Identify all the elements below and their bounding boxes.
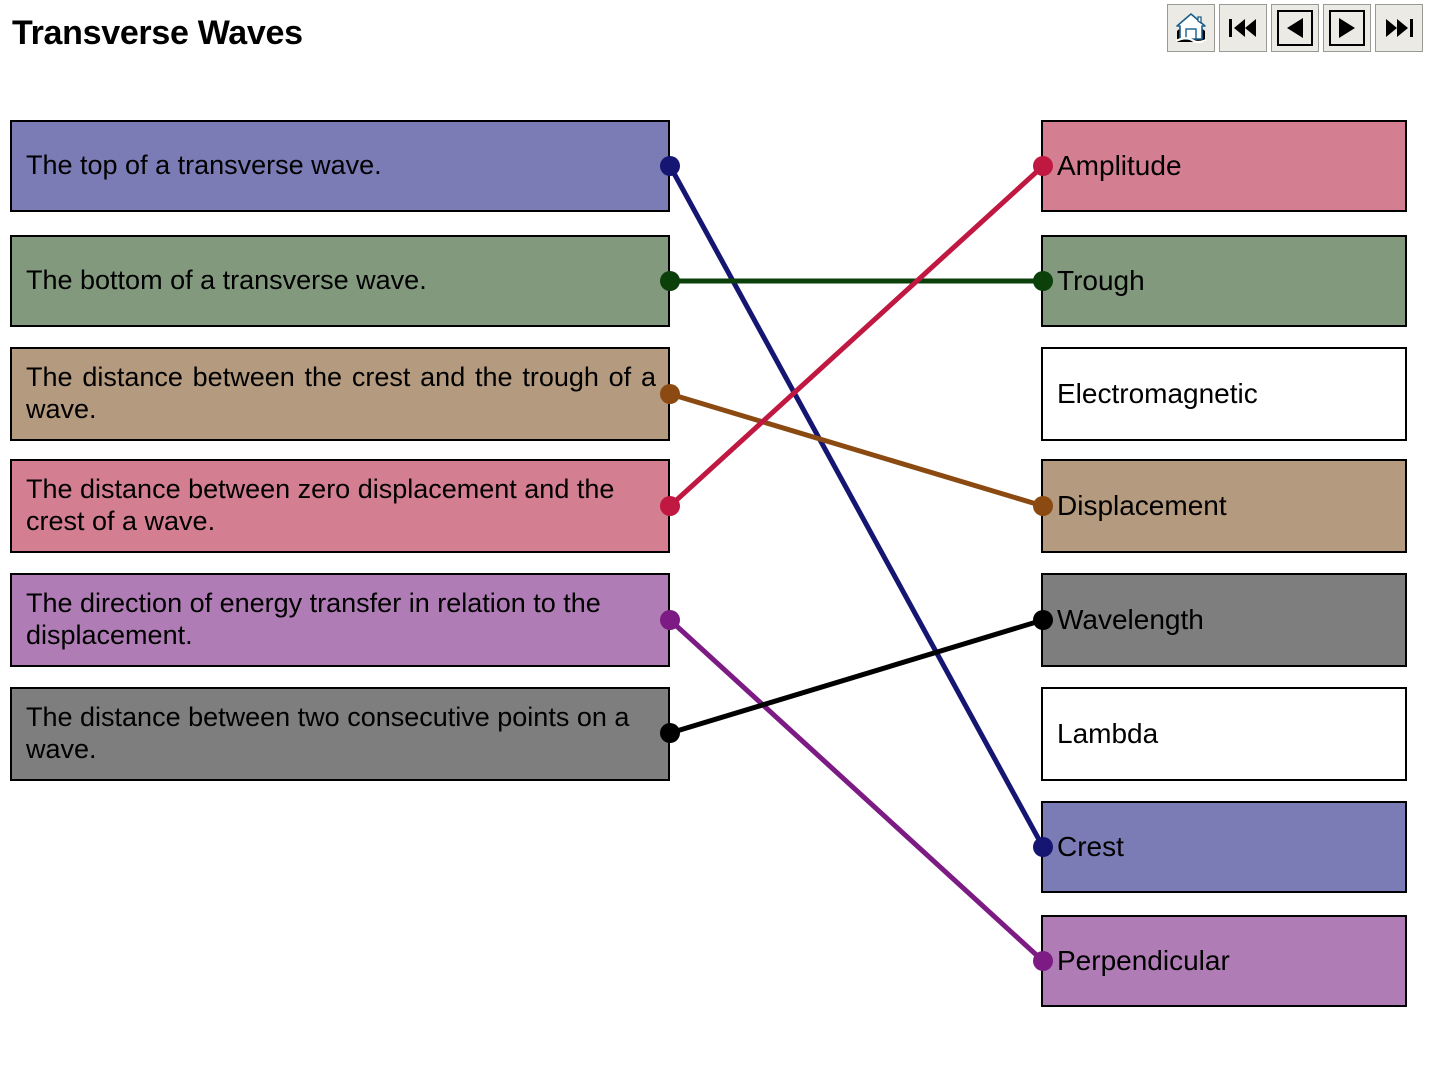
term-text: Lambda (1057, 717, 1399, 750)
navigation-toolbar (1167, 4, 1423, 52)
term-text: Perpendicular (1057, 944, 1399, 977)
previous-button[interactable] (1271, 4, 1319, 52)
term-box[interactable]: Trough (1041, 235, 1407, 327)
term-text: Amplitude (1057, 149, 1399, 182)
term-box[interactable]: Amplitude (1041, 120, 1407, 212)
definition-box[interactable]: The bottom of a transverse wave. (10, 235, 670, 327)
definition-text: The direction of energy transfer in rela… (26, 588, 656, 652)
connector-line (670, 166, 1043, 506)
definition-text: The top of a transverse wave. (26, 150, 656, 182)
home-icon (1173, 10, 1209, 46)
term-box[interactable]: Crest (1041, 801, 1407, 893)
definition-text: The distance between the crest and the t… (26, 362, 656, 426)
term-box[interactable]: Wavelength (1041, 573, 1407, 667)
definition-box[interactable]: The top of a transverse wave. (10, 120, 670, 212)
definition-box[interactable]: The distance between two consecutive poi… (10, 687, 670, 781)
term-text: Displacement (1057, 489, 1399, 522)
triangle-right-icon (1329, 10, 1365, 46)
definition-text: The bottom of a transverse wave. (26, 265, 656, 297)
page-title: Transverse Waves (12, 14, 303, 53)
first-button[interactable] (1219, 4, 1267, 52)
term-box[interactable]: Electromagnetic (1041, 347, 1407, 441)
connector-line (670, 166, 1043, 847)
last-button[interactable] (1375, 4, 1423, 52)
connector-line (670, 620, 1043, 733)
term-text: Wavelength (1057, 603, 1399, 636)
term-text: Trough (1057, 264, 1399, 297)
next-button[interactable] (1323, 4, 1371, 52)
term-box[interactable]: Displacement (1041, 459, 1407, 553)
home-button[interactable] (1167, 4, 1215, 52)
definition-text: The distance between zero displacement a… (26, 474, 656, 538)
definition-box[interactable]: The direction of energy transfer in rela… (10, 573, 670, 667)
skip-to-end-icon (1381, 10, 1417, 46)
connector-line (670, 394, 1043, 506)
connector-line (670, 620, 1043, 961)
definition-text: The distance between two consecutive poi… (26, 702, 656, 766)
definition-box[interactable]: The distance between the crest and the t… (10, 347, 670, 441)
term-text: Electromagnetic (1057, 377, 1399, 410)
term-box[interactable]: Lambda (1041, 687, 1407, 781)
definition-box[interactable]: The distance between zero displacement a… (10, 459, 670, 553)
term-text: Crest (1057, 830, 1399, 863)
skip-to-start-icon (1225, 10, 1261, 46)
triangle-left-icon (1277, 10, 1313, 46)
term-box[interactable]: Perpendicular (1041, 915, 1407, 1007)
